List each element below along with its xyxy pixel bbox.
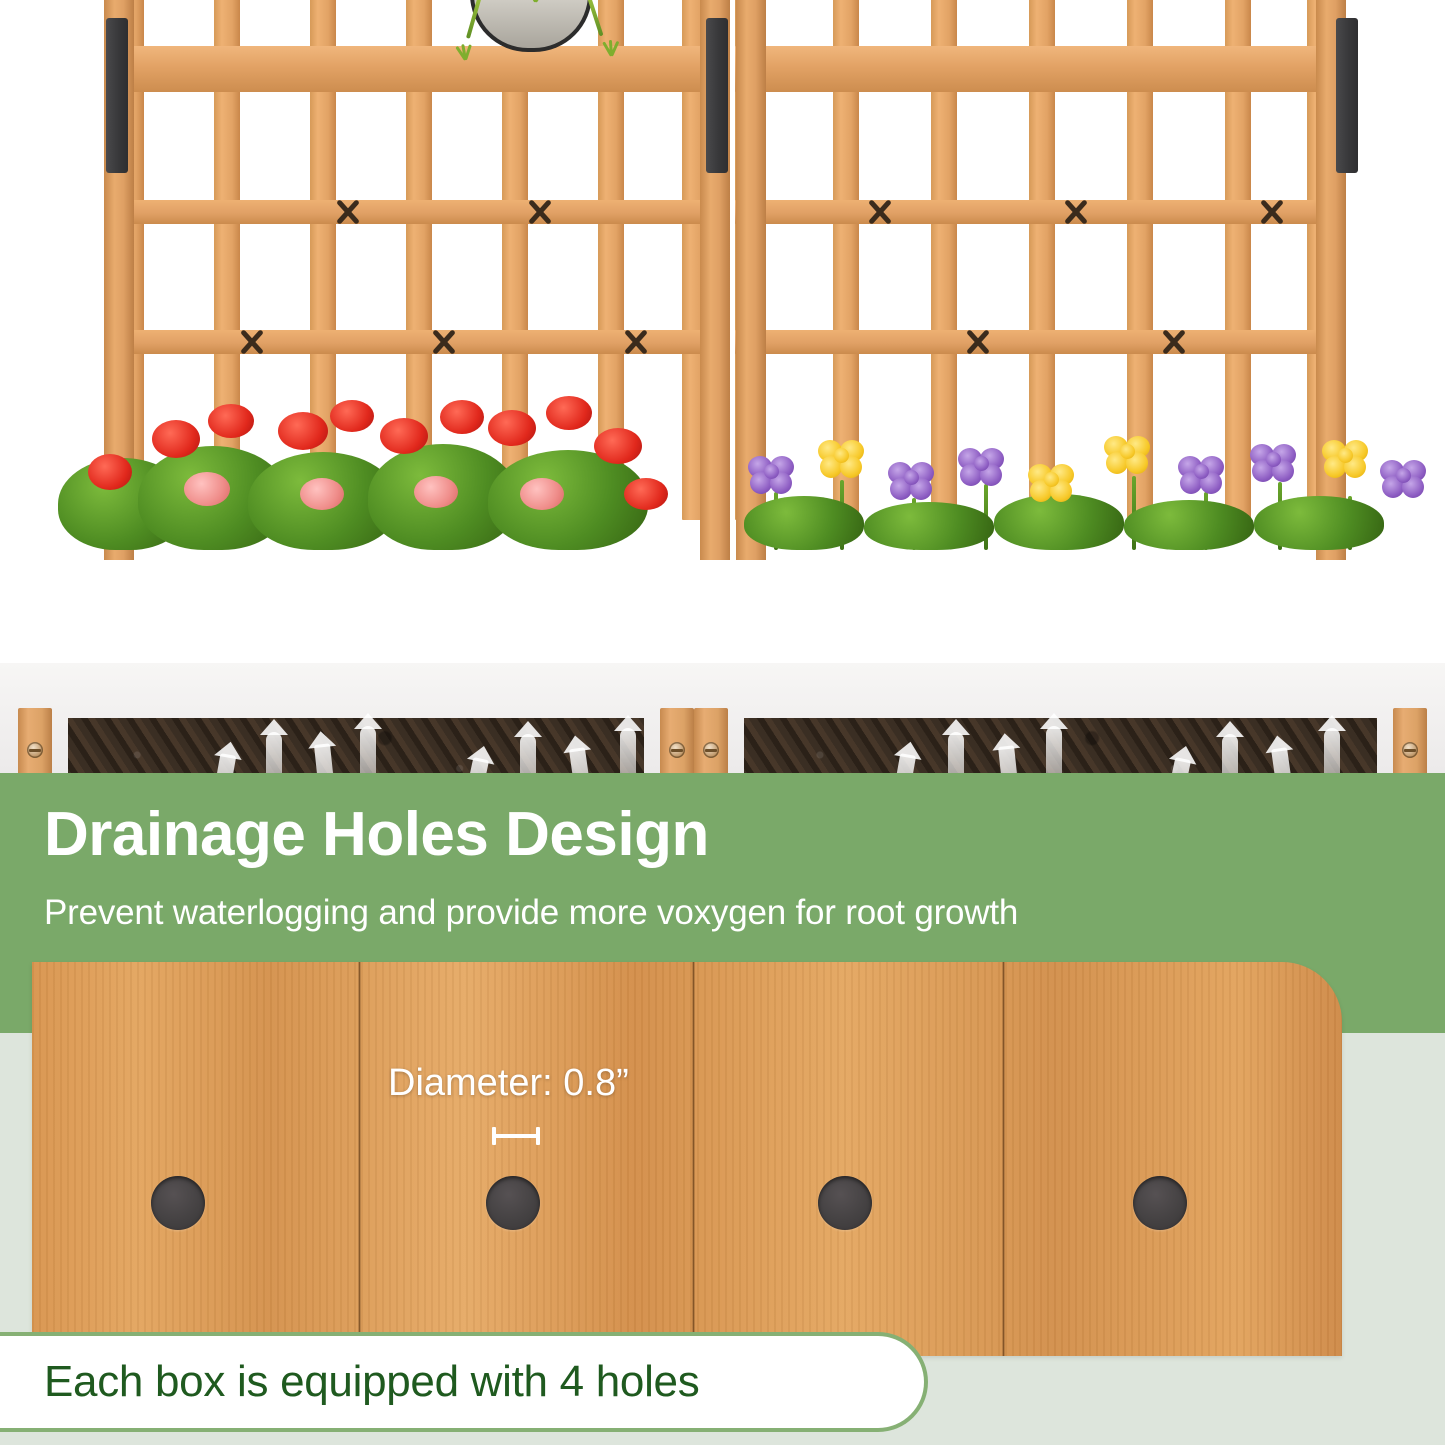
mounting-bracket (106, 18, 128, 173)
banner-title: Drainage Holes Design (44, 799, 709, 870)
pansy-flower (1322, 436, 1368, 478)
flower-band-pansies (744, 400, 1377, 550)
drainage-hole (1133, 1176, 1187, 1230)
soil-cross-section (744, 718, 1377, 773)
airflow-arrow (266, 732, 282, 773)
planter-corner-post (1393, 708, 1427, 773)
pansy-flower (888, 458, 934, 500)
pansy-flower (1250, 440, 1296, 482)
airflow-arrow (459, 757, 489, 773)
pansy-flower (1380, 456, 1426, 498)
drainage-hole (818, 1176, 872, 1230)
planter-corner-post (18, 708, 52, 773)
airflow-arrow (1271, 747, 1297, 773)
screw-icon (669, 742, 685, 758)
airflow-arrow (520, 734, 536, 773)
airflow-arrow (948, 732, 964, 773)
pansy-flower (748, 452, 794, 494)
pansy-flower (1178, 452, 1224, 494)
measure-bracket-icon (492, 1127, 540, 1145)
trailing-foliage (452, 44, 478, 70)
trellis-clip-icon (963, 327, 993, 357)
airflow-arrow (314, 743, 338, 773)
infographic-page: Drainage Holes Design Prevent waterloggi… (0, 0, 1445, 1445)
trellis-clip-icon (237, 327, 267, 357)
trellis-clip-icon (1159, 327, 1189, 357)
banner-subtitle: Prevent waterlogging and provide more vo… (44, 893, 1018, 933)
mounting-bracket (706, 18, 728, 173)
board-seam (358, 962, 361, 1356)
pansy-flower (958, 444, 1004, 486)
product-photo-section (0, 0, 1445, 773)
drainage-hole (151, 1176, 205, 1230)
trellis-clip-icon (525, 197, 555, 227)
trellis-clip-icon (621, 327, 651, 357)
airflow-arrow (888, 753, 916, 773)
diameter-label: Diameter: 0.8” (388, 1062, 629, 1105)
soil-cross-section (68, 718, 644, 773)
airflow-arrow (360, 726, 376, 773)
planter-corner-post (694, 708, 728, 773)
airflow-arrow (998, 745, 1022, 773)
drainage-hole (486, 1176, 540, 1230)
airflow-arrow (569, 747, 595, 773)
trellis-clip-icon (1061, 197, 1091, 227)
airflow-arrow (208, 753, 237, 773)
pansy-flower (1104, 432, 1150, 474)
airflow-arrow (1161, 757, 1191, 773)
trellis-clip-icon (1257, 197, 1287, 227)
airflow-arrow (620, 728, 636, 773)
trellis-clip-icon (333, 197, 363, 227)
trellis-clip-icon (865, 197, 895, 227)
airflow-arrow (1046, 726, 1062, 773)
drainage-panel-photo (32, 962, 1342, 1356)
screw-icon (1402, 742, 1418, 758)
airflow-arrow (1324, 728, 1340, 773)
trellis-clip-icon (429, 327, 459, 357)
screw-icon (703, 742, 719, 758)
board-seam (692, 962, 695, 1356)
airflow-arrow (1222, 734, 1238, 773)
trailing-foliage (598, 40, 624, 66)
pansy-flower (818, 436, 864, 478)
caption-text: Each box is equipped with 4 holes (44, 1357, 699, 1407)
board-seam (1002, 962, 1005, 1356)
planter-corner-post (660, 708, 694, 773)
pansy-flower (1028, 460, 1074, 502)
caption-pill: Each box is equipped with 4 holes (0, 1332, 928, 1432)
flower-band-geraniums (68, 400, 644, 550)
screw-icon (27, 742, 43, 758)
mounting-bracket (1336, 18, 1358, 173)
